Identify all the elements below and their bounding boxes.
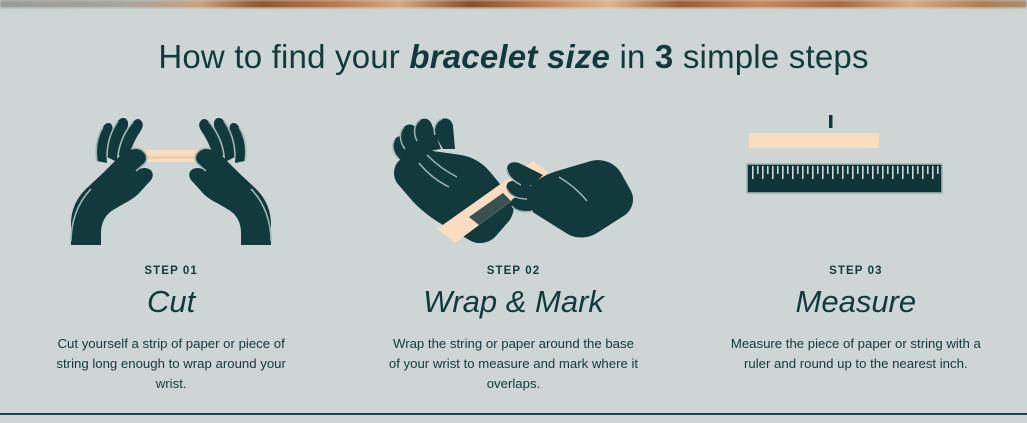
top-photo-sliver-fade (0, 7, 1027, 11)
step-title-1: Cut (147, 286, 195, 317)
step-description-2: Wrap the string or paper around the base… (388, 334, 638, 394)
step-title-2: Wrap & Mark (423, 286, 604, 317)
steps-row: STEP 01 Cut Cut yourself a strip of pape… (0, 105, 1027, 394)
step-column-3: STEP 03 Measure Measure the piece of pap… (685, 105, 1027, 394)
page-title-part3: simple steps (673, 38, 868, 75)
page-title-part2: in (610, 38, 655, 75)
step-title-3: Measure (796, 286, 917, 317)
measure-illustration (726, 105, 986, 245)
step-label-1: STEP 01 (144, 265, 198, 277)
step-description-3: Measure the piece of paper or string wit… (731, 334, 981, 374)
page-title-emphasis: bracelet size (409, 38, 610, 75)
page-title-part1: How to find your (158, 38, 409, 75)
step-column-1: STEP 01 Cut Cut yourself a strip of pape… (0, 105, 342, 394)
step-label-3: STEP 03 (829, 265, 883, 277)
wrap-and-mark-illustration (383, 105, 643, 245)
step-column-2: STEP 02 Wrap & Mark Wrap the string or p… (342, 105, 684, 394)
paper-strip-shape (144, 150, 200, 162)
measured-paper-strip-shape (749, 133, 879, 148)
pencil-mark-tick (829, 115, 833, 128)
step-label-2: STEP 02 (487, 265, 541, 277)
left-hand-shape (71, 118, 153, 245)
page-title-number: 3 (655, 38, 674, 75)
cut-illustration (41, 105, 301, 245)
page-title: How to find your bracelet size in 3 simp… (0, 38, 1027, 76)
bracelet-size-guide-section: How to find your bracelet size in 3 simp… (0, 0, 1027, 423)
right-hand-shape (189, 118, 271, 245)
step-description-1: Cut yourself a strip of paper or piece o… (46, 334, 296, 394)
bottom-strip (0, 415, 1027, 423)
ruler-shape (747, 164, 942, 193)
